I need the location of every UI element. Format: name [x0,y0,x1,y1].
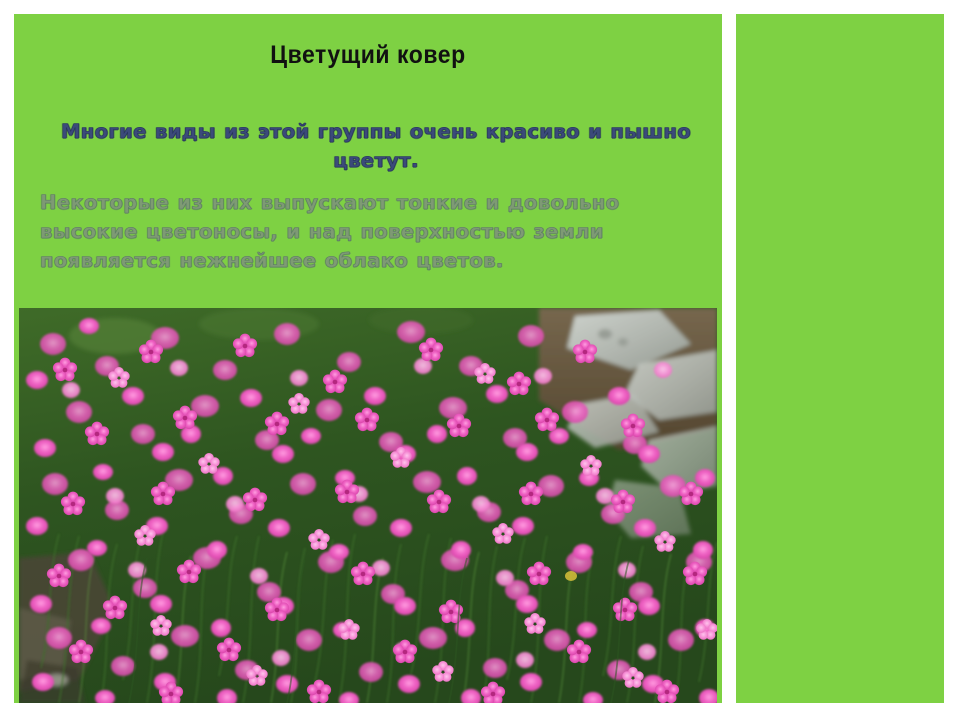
yellow-accent-bloom [565,571,577,581]
flowering-carpet-photo [19,308,717,703]
slide-canvas: Цветущий ковер Многие виды из этой групп… [0,0,960,720]
slide-body-text: Многие виды из этой группы очень красиво… [40,117,712,332]
paragraph-lead: Многие виды из этой группы очень красиво… [40,117,712,175]
page-title: Цветущий ковер [42,40,693,70]
flower-photo-artwork [19,308,717,703]
slide-main-panel: Цветущий ковер Многие виды из этой групп… [14,14,722,703]
paragraph-body: Некоторые из них выпускают тонкие и дово… [40,188,712,275]
right-accent-panel [736,14,944,703]
